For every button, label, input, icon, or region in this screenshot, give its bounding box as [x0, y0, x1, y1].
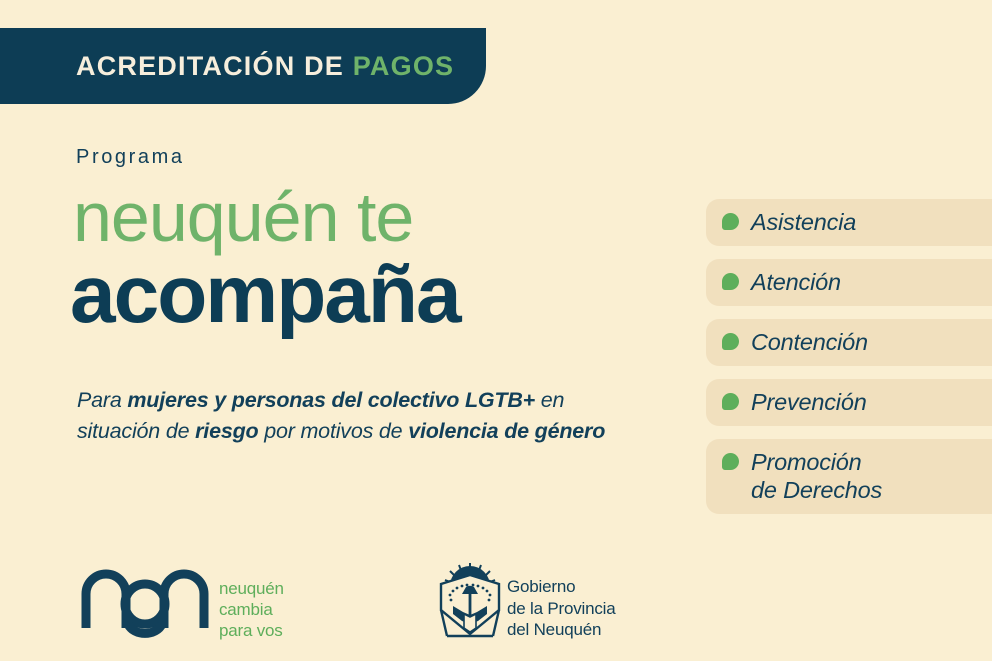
leaf-bullet-icon	[722, 273, 739, 290]
list-item: Prevención	[706, 379, 992, 426]
description-segment-5: violencia de género	[408, 419, 605, 443]
list-item: Atención	[706, 259, 992, 306]
program-eyebrow: Programa	[76, 146, 185, 169]
service-label: Prevención	[751, 388, 867, 416]
program-title-line1: neuquén te	[73, 182, 413, 252]
description-segment-4: por motivos de	[258, 419, 408, 443]
leaf-bullet-icon	[722, 333, 739, 350]
description-segment-1: mujeres y personas del colectivo LGTB+	[127, 388, 535, 412]
service-label: Asistencia	[751, 208, 856, 236]
service-label: Contención	[751, 328, 868, 356]
nqn-tagline: neuquén cambia para vos	[219, 578, 284, 641]
service-label: Promoción de Derechos	[751, 448, 882, 504]
government-name: Gobierno de la Provincia del Neuquén	[507, 576, 616, 641]
program-title-line2: acompaña	[70, 254, 460, 336]
header-banner: ACREDITACIÓN DE PAGOS	[0, 28, 486, 104]
leaf-bullet-icon	[722, 453, 739, 470]
list-item: Promoción de Derechos	[706, 439, 992, 514]
leaf-bullet-icon	[722, 393, 739, 410]
government-crest-icon	[437, 562, 503, 649]
list-item: Asistencia	[706, 199, 992, 246]
leaf-bullet-icon	[722, 213, 739, 230]
banner-title-primary: ACREDITACIÓN DE	[76, 51, 344, 81]
nqn-logo-icon	[80, 566, 210, 643]
description-segment-0: Para	[77, 388, 127, 412]
poster-canvas: ACREDITACIÓN DE PAGOS Programa neuquén t…	[0, 0, 992, 661]
description-segment-3: riesgo	[195, 419, 258, 443]
program-description: Para mujeres y personas del colectivo LG…	[77, 385, 622, 447]
list-item: Contención	[706, 319, 992, 366]
services-list: Asistencia Atención Contención Prevenció…	[706, 199, 992, 527]
banner-title: ACREDITACIÓN DE PAGOS	[76, 51, 454, 82]
service-label: Atención	[751, 268, 841, 296]
banner-title-accent: PAGOS	[353, 51, 455, 81]
